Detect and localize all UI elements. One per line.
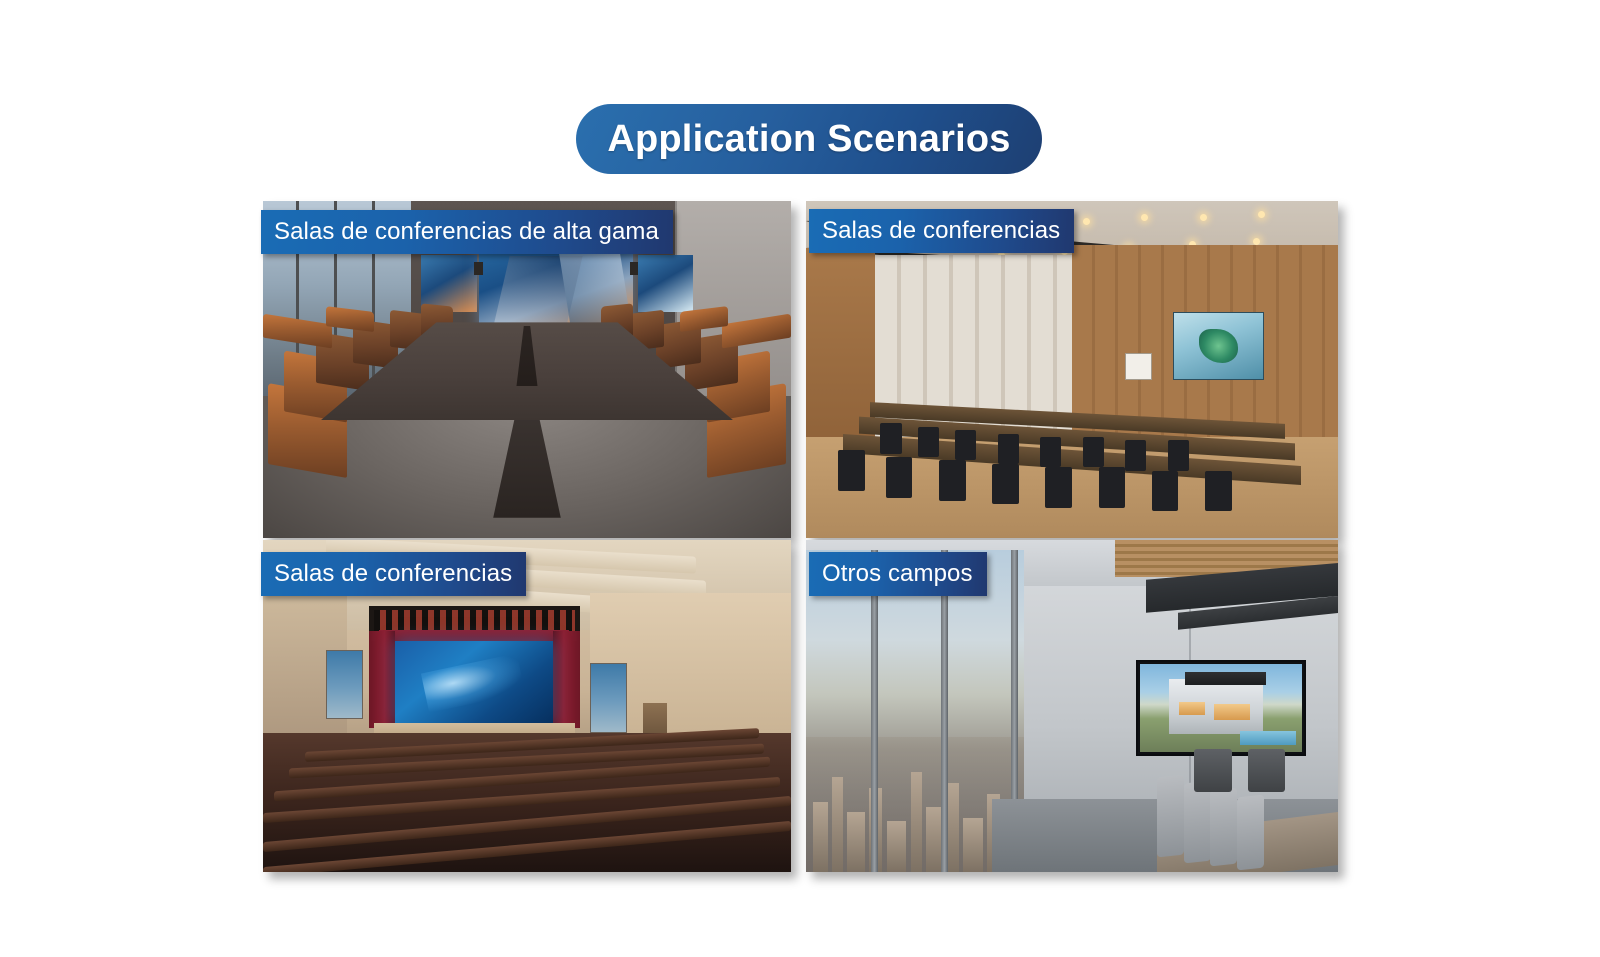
- p4-chair: [1237, 794, 1264, 870]
- p2-chair: [955, 430, 976, 460]
- p4-window-mullion: [871, 550, 878, 872]
- p2-chair: [886, 457, 913, 497]
- p4-chair: [1157, 774, 1184, 856]
- p4-display-content: [1140, 664, 1302, 752]
- p3-side-display-right: [590, 663, 627, 733]
- p2-chair: [1168, 440, 1189, 470]
- p2-chair: [1045, 467, 1072, 507]
- p2-chair: [918, 427, 939, 457]
- p2-chair: [838, 450, 865, 490]
- p3-curtain-left: [369, 631, 395, 727]
- p2-chair: [1152, 471, 1179, 511]
- p2-chair: [1205, 471, 1232, 511]
- p1-speaker-left: [474, 262, 482, 275]
- p1-led-screen-right: [638, 255, 693, 312]
- caption-panel-2: Salas de conferencias: [809, 209, 1074, 253]
- page-title: Application Scenarios: [607, 118, 1010, 161]
- p2-chair: [998, 434, 1019, 464]
- p4-chair: [1210, 788, 1237, 867]
- p2-chair: [1040, 437, 1061, 467]
- caption-label: Salas de conferencias: [822, 217, 1060, 245]
- caption-panel-1: Salas de conferencias de alta gama: [261, 210, 673, 254]
- p3-seat-row: [263, 777, 780, 823]
- p3-side-display-left: [326, 650, 363, 720]
- page-title-pill: Application Scenarios: [576, 104, 1042, 174]
- p2-chair: [1083, 437, 1104, 467]
- p4-wall-display: [1136, 660, 1306, 756]
- p3-curtain-right: [553, 631, 579, 727]
- p1-speaker-right: [630, 262, 638, 275]
- caption-label: Otros campos: [822, 560, 973, 588]
- caption-panel-4: Otros campos: [809, 552, 987, 596]
- p4-window-mullion: [941, 550, 948, 872]
- p3-led-wall: [395, 641, 553, 724]
- p4-chair: [1194, 749, 1231, 792]
- caption-label: Salas de conferencias: [274, 560, 512, 588]
- p2-chair: [992, 464, 1019, 504]
- p4-chair: [1184, 781, 1211, 863]
- p2-display-screen: [1173, 312, 1263, 379]
- p2-ceiling-light: [1083, 218, 1090, 225]
- p2-chair: [1125, 440, 1146, 470]
- p4-chair: [1248, 749, 1285, 792]
- p2-chair: [1099, 467, 1126, 507]
- p2-chair: [880, 423, 901, 453]
- p2-chair: [939, 460, 966, 500]
- p4-house-roof: [1185, 672, 1266, 684]
- caption-label: Salas de conferencias de alta gama: [274, 218, 659, 246]
- p3-seating-area: [263, 733, 791, 872]
- p2-wall-panel: [1125, 353, 1152, 380]
- slide-root: Application Scenarios: [0, 0, 1600, 957]
- p4-pool: [1240, 731, 1295, 745]
- caption-panel-3: Salas de conferencias: [261, 552, 526, 596]
